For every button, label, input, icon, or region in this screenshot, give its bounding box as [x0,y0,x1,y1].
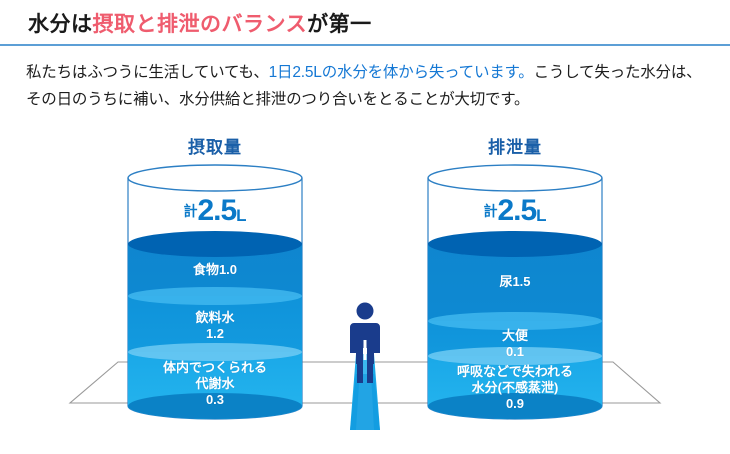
person-leg-gap [364,340,367,360]
title-accent: 摂取と排泄のバランス [93,13,308,36]
person-head [357,303,374,320]
output-total-prefix: 計 [483,203,497,219]
intake-label-metabolic: 体内でつくられる 代謝水 0.3 [127,360,303,408]
intake-total-number: 2.5 [197,194,236,227]
lead-paragraph: 私たちはふつうに生活していても、1日2.5Lの水分を体から失っています。こうして… [26,60,706,113]
output-water-surface [428,231,602,257]
output-label-stool: 大便 0.1 [427,328,603,360]
output-cylinder: 計2.5L 尿1.5 大便 0.1 呼吸などで失われる 水分(不感蒸泄) 0.9 [427,164,603,420]
output-label-stool-line2: 0.1 [506,344,524,359]
output-title: 排泄量 [427,133,603,158]
intake-divider-2 [128,343,302,361]
title-part-1: 水分は [28,13,93,36]
intake-label-drink-line1: 飲料水 [195,310,234,325]
person-figure [330,298,400,443]
intake-title: 摂取量 [127,133,303,158]
intake-label-metabolic-line2: 代謝水 [195,376,234,391]
intake-total-label: 計2.5L [127,196,303,226]
output-label-insensible-line3: 0.9 [506,396,524,411]
output-total-unit: L [536,206,546,225]
output-label-insensible-line1: 呼吸などで失われる [457,364,573,379]
lead-text-1: 私たちはふつうに生活していても、 [26,64,269,81]
intake-cylinder: 計2.5L 食物1.0 飲料水 1.2 体内でつくられる 代謝水 0.3 [127,164,303,420]
intake-label-metabolic-line3: 0.3 [206,392,224,407]
intake-divider-1 [128,287,302,305]
output-label-stool-line1: 大便 [502,328,528,343]
intake-label-food-text: 食物1.0 [193,262,237,277]
output-label-urine-text: 尿1.5 [499,274,530,289]
page-title: 水分は摂取と排泄のバランスが第一 [28,8,372,38]
intake-label-food: 食物1.0 [127,262,303,278]
intake-water-surface [128,231,302,257]
intake-total-unit: L [236,206,246,225]
title-part-3: が第一 [307,13,372,36]
output-total-number: 2.5 [497,194,536,227]
intake-total-prefix: 計 [183,203,197,219]
output-label-insensible-line2: 水分(不感蒸泄) [472,380,559,395]
output-total-label: 計2.5L [427,196,603,226]
infographic-page: 水分は摂取と排泄のバランスが第一 私たちはふつうに生活していても、1日2.5Lの… [0,0,730,454]
title-underline-rule [0,44,730,46]
intake-label-metabolic-line1: 体内でつくられる [163,360,267,375]
intake-label-drink-line2: 1.2 [206,326,224,341]
output-label-urine: 尿1.5 [427,274,603,290]
intake-cylinder-group: 摂取量 [127,133,303,420]
output-label-insensible: 呼吸などで失われる 水分(不感蒸泄) 0.9 [427,364,603,412]
intake-label-drink: 飲料水 1.2 [127,310,303,342]
output-cylinder-group: 排泄量 [427,133,603,420]
lead-highlight: 1日2.5Lの水分を体から失っています。 [269,64,534,81]
